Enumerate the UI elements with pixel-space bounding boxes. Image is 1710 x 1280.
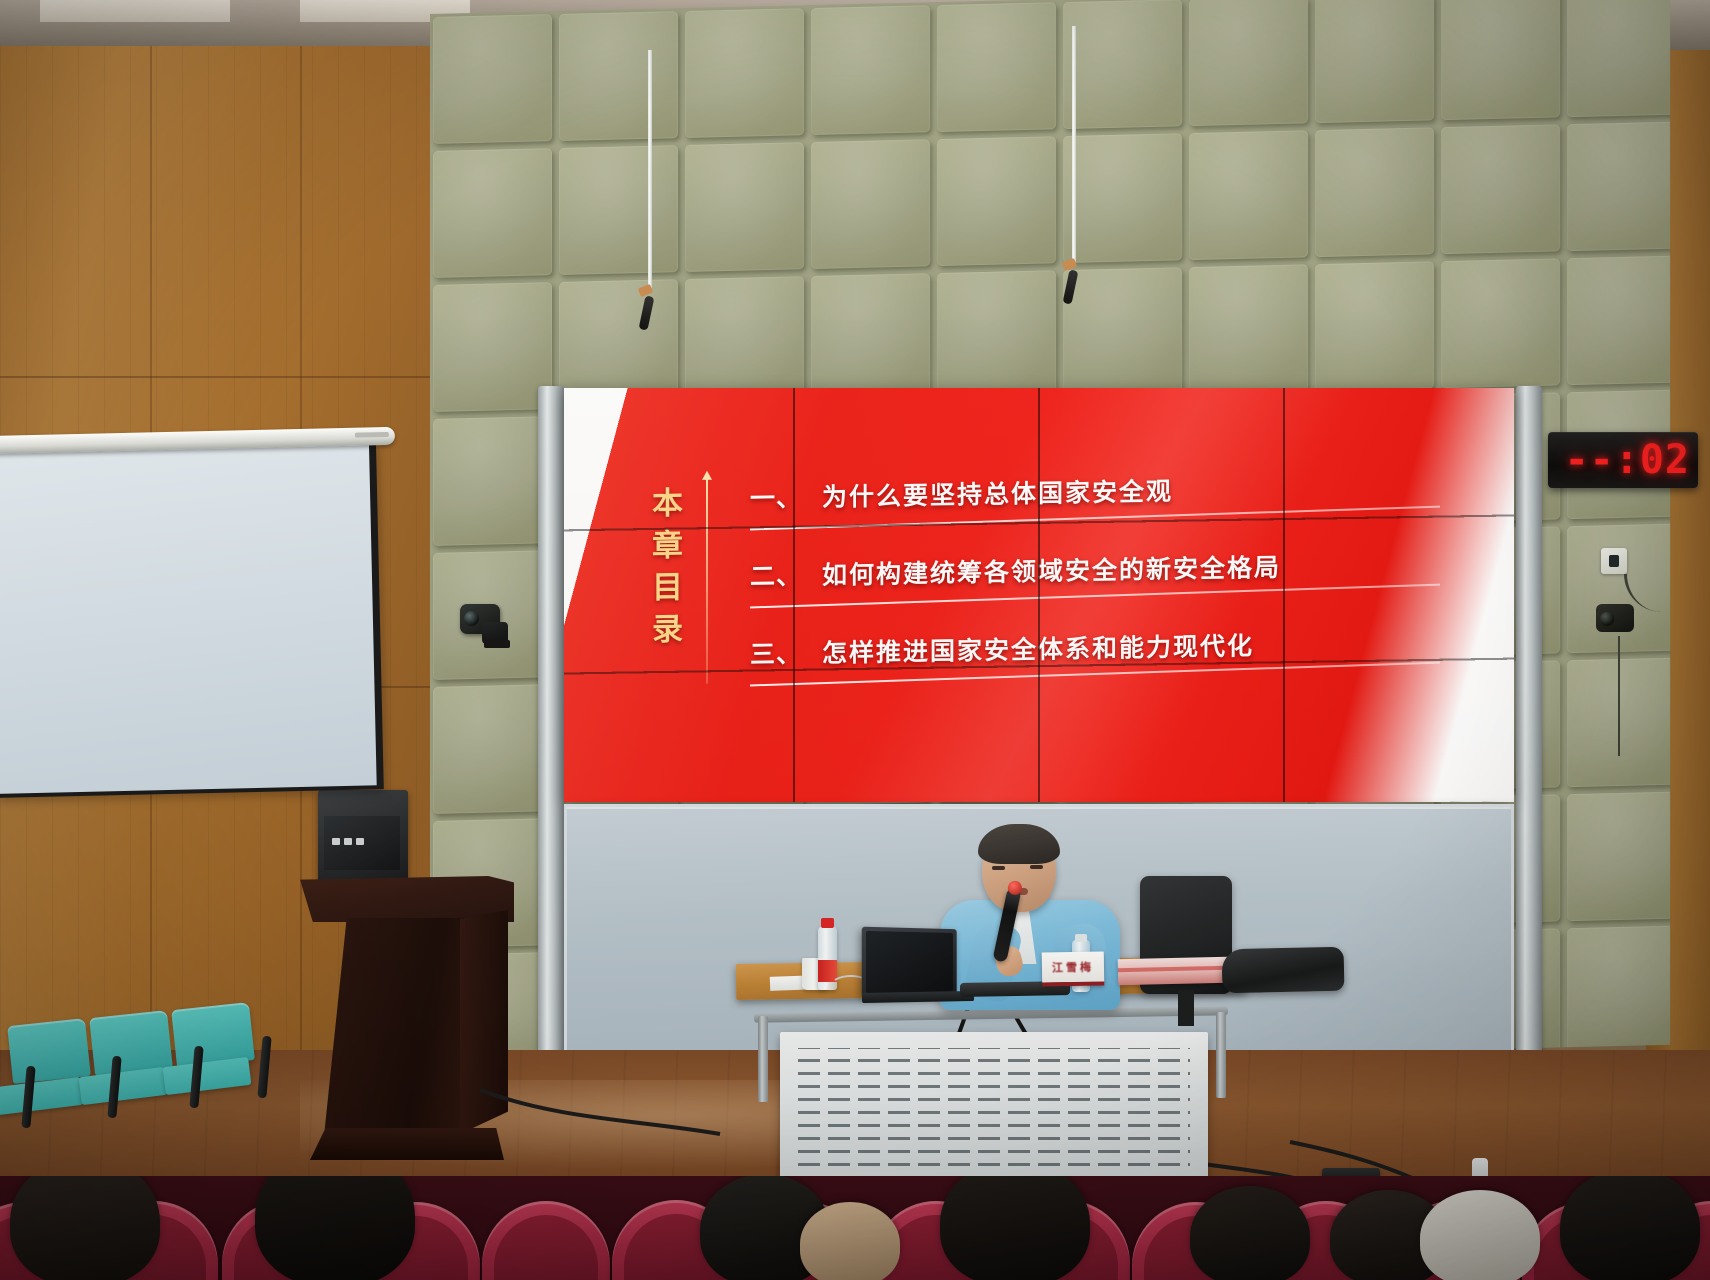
placard-name-text: 江雪梅	[1052, 959, 1094, 976]
presenter-eye	[992, 866, 1005, 870]
audience-member-head	[800, 1202, 900, 1280]
bench-seat	[0, 1077, 83, 1115]
table-leg	[1216, 1012, 1226, 1098]
laptop-bag	[1222, 947, 1345, 994]
lecture-hall-photo: --:02 本章目录 一、 为什么要坚持总体国家安全观	[0, 0, 1710, 1280]
bench-backrest	[7, 1018, 91, 1084]
audience-member-head	[255, 1176, 415, 1280]
table-leg	[758, 1016, 768, 1102]
bench-seat	[79, 1067, 168, 1105]
bench-backrest	[89, 1010, 173, 1076]
audience-member-head	[940, 1176, 1090, 1280]
audience-member-head	[1560, 1176, 1700, 1280]
presenter-hair	[978, 824, 1060, 864]
name-placard: 江雪梅	[1042, 951, 1105, 986]
desk-documents	[1118, 957, 1229, 985]
audience-member-head	[10, 1176, 160, 1280]
laptop-base	[862, 991, 974, 1003]
projector-screen	[0, 441, 384, 798]
side-bench-seating	[0, 996, 292, 1136]
audience-member-head	[1190, 1186, 1310, 1280]
presenter-eye	[1030, 865, 1043, 869]
table-front-panel	[780, 1032, 1208, 1182]
laptop	[862, 927, 957, 998]
bench-leg	[257, 1036, 271, 1099]
office-chair-stem	[1178, 990, 1194, 1026]
audience-seating-area	[0, 1176, 1710, 1280]
table-vent-grille	[798, 1048, 1190, 1166]
audience-member-head	[1420, 1190, 1540, 1280]
